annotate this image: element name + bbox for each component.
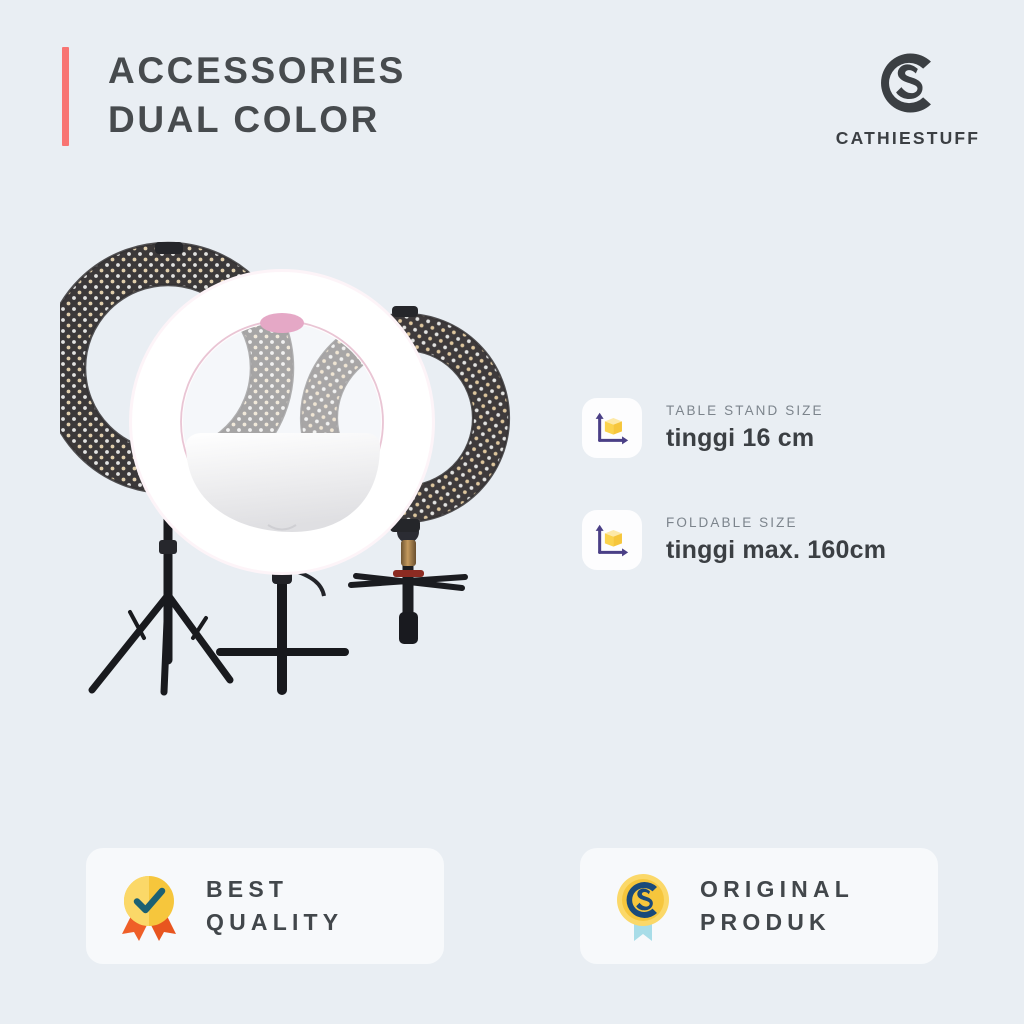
- badge-icon: [612, 870, 674, 942]
- badge-best-quality: BEST QUALITY: [86, 848, 444, 964]
- spec-value: tinggi max. 160cm: [666, 534, 886, 566]
- title-line-1: ACCESSORIES: [108, 46, 406, 95]
- badge-icon: [118, 870, 180, 942]
- quality-medal-icon: [118, 870, 180, 942]
- badge-row: BEST QUALITY ORIGINAL PRODUK: [86, 848, 938, 964]
- dimension-box-icon: [593, 521, 631, 559]
- yellow-cube: [605, 418, 622, 435]
- badge-text: ORIGINAL PRODUK: [700, 873, 854, 939]
- spec-list: TABLE STAND SIZE tinggi 16 cm: [582, 398, 982, 622]
- spec-label: TABLE STAND SIZE: [666, 402, 824, 420]
- brand-name: CATHIESTUFF: [836, 128, 980, 149]
- badge-line-1: ORIGINAL: [700, 873, 854, 906]
- badge-line-1: BEST: [206, 873, 343, 906]
- brand-logo: CATHIESTUFF: [828, 42, 988, 149]
- ring-light-front-pink: [134, 274, 430, 690]
- ring-lights-illustration: [60, 240, 590, 740]
- badge-original-produk: ORIGINAL PRODUK: [580, 848, 938, 964]
- title-accent-bar: [62, 47, 69, 146]
- spec-row-table-stand: TABLE STAND SIZE tinggi 16 cm: [582, 398, 982, 458]
- spec-icon-card: [582, 510, 642, 570]
- spec-text: TABLE STAND SIZE tinggi 16 cm: [666, 402, 824, 454]
- product-infographic: ACCESSORIES DUAL COLOR CATHIESTUFF: [0, 0, 1024, 1024]
- badge-line-2: PRODUK: [700, 906, 854, 939]
- cs-monogram-icon: [867, 42, 949, 124]
- original-product-medal-icon: [612, 870, 674, 942]
- spec-row-foldable: FOLDABLE SIZE tinggi max. 160cm: [582, 510, 982, 570]
- yellow-cube: [605, 530, 622, 547]
- product-image: [60, 240, 590, 740]
- spec-value: tinggi 16 cm: [666, 422, 824, 454]
- page-title: ACCESSORIES DUAL COLOR: [108, 46, 406, 144]
- dimension-box-icon: [593, 409, 631, 447]
- spec-label: FOLDABLE SIZE: [666, 514, 886, 532]
- spec-text: FOLDABLE SIZE tinggi max. 160cm: [666, 514, 886, 566]
- spec-icon-card: [582, 398, 642, 458]
- badge-line-2: QUALITY: [206, 906, 343, 939]
- badge-text: BEST QUALITY: [206, 873, 343, 939]
- title-line-2: DUAL COLOR: [108, 95, 406, 144]
